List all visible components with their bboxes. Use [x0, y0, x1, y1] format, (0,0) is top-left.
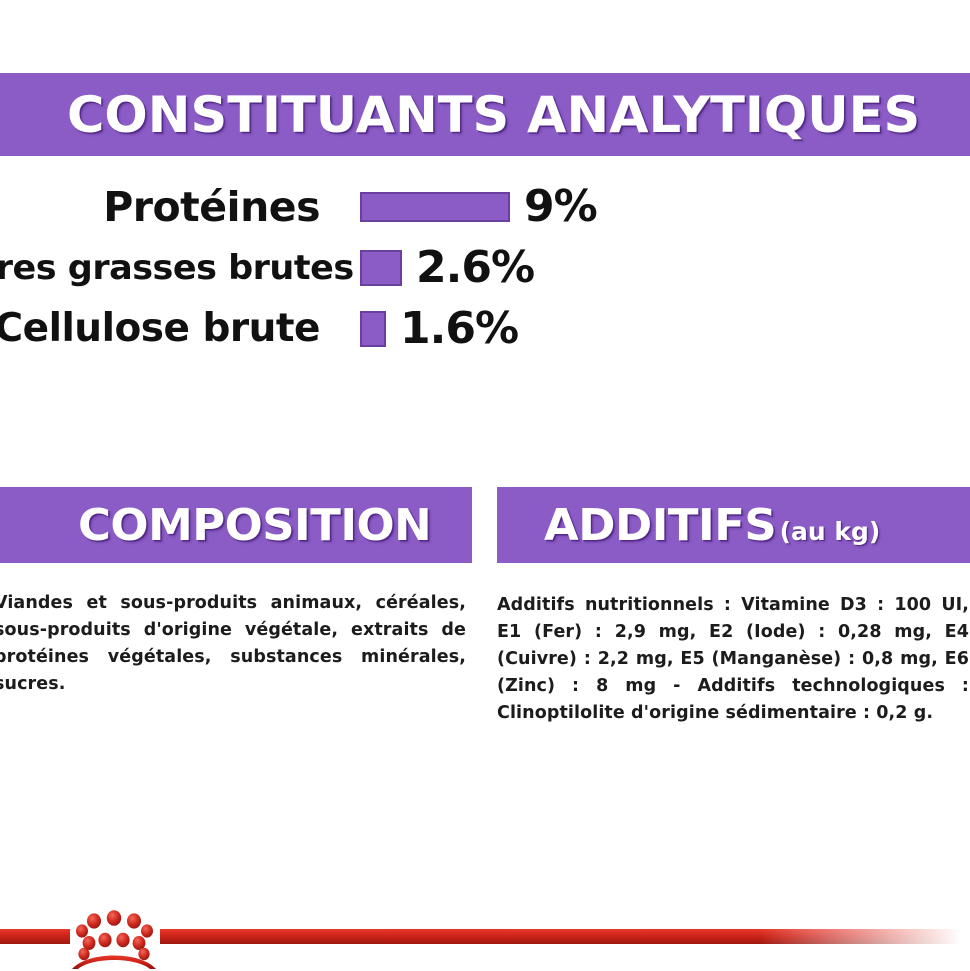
nutrient-label-proteines: Protéines	[0, 183, 320, 231]
additives-subtitle: (au kg)	[780, 517, 881, 546]
composition-banner: COMPOSITION	[0, 487, 472, 563]
royal-canin-crown-icon	[62, 899, 166, 971]
nutrient-label-matieres-grasses-brutes: Matières grasses brutes	[0, 248, 320, 288]
brand-footer	[0, 893, 970, 971]
footer-rule-left	[0, 929, 70, 944]
nutrient-row: Cellulose brute 1.6%	[0, 298, 640, 359]
additives-text: Additifs nutritionnels : Vitamine D3 : 1…	[497, 592, 969, 727]
composition-text: Viandes et sous-produits animaux, céréal…	[0, 590, 466, 698]
nutrient-bar-matieres-grasses-brutes	[360, 250, 402, 286]
nutrient-bar-proteines	[360, 192, 510, 222]
analytical-constituents-chart: Protéines 9% Matières grasses brutes 2.6…	[0, 176, 640, 359]
nutrient-value-proteines: 9%	[524, 181, 597, 232]
additives-title: ADDITIFS	[544, 500, 776, 551]
nutrient-bar-cellulose-brute	[360, 311, 386, 347]
nutrient-row: Protéines 9%	[0, 176, 640, 237]
nutrient-row: Matières grasses brutes 2.6%	[0, 237, 640, 298]
analytical-constituents-title: CONSTITUANTS ANALYTIQUES	[67, 86, 920, 144]
analytical-constituents-banner: CONSTITUANTS ANALYTIQUES	[0, 73, 970, 156]
nutrient-value-matieres-grasses-brutes: 2.6%	[416, 242, 534, 293]
nutrient-label-cellulose-brute: Cellulose brute	[0, 306, 320, 351]
nutrient-value-cellulose-brute: 1.6%	[400, 303, 518, 354]
composition-title: COMPOSITION	[78, 500, 431, 551]
additives-banner: ADDITIFS (au kg)	[497, 487, 970, 563]
footer-rule-right	[160, 929, 970, 944]
